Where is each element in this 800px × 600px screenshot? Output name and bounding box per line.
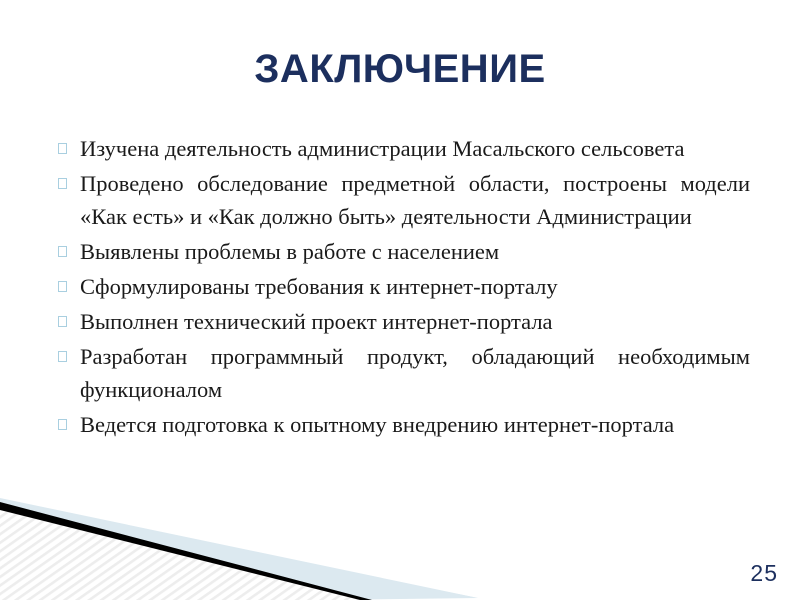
list-item-text: Выявлены проблемы в работе с населением xyxy=(80,235,750,268)
square-bullet-icon xyxy=(58,132,80,154)
hatched-region xyxy=(0,510,360,600)
square-bullet-icon xyxy=(58,408,80,430)
black-diagonal-band xyxy=(0,502,372,600)
list-item: Выполнен технический проект интернет-пор… xyxy=(58,305,750,338)
square-bullet-icon xyxy=(58,167,80,189)
list-item: Проведено обследование предметной област… xyxy=(58,167,750,233)
diagonal-corner-graphic xyxy=(0,490,800,600)
pale-blue-wedge-body xyxy=(0,504,478,598)
list-item: Ведется подготовка к опытному внедрению … xyxy=(58,408,750,441)
list-item: Разработан программный продукт, обладающ… xyxy=(58,340,750,406)
list-item: Сформулированы требования к интернет-пор… xyxy=(58,270,750,303)
page-number: 25 xyxy=(750,560,778,586)
list-item-text: Сформулированы требования к интернет-пор… xyxy=(80,270,750,303)
square-bullet-icon xyxy=(58,270,80,292)
square-bullet-icon xyxy=(58,235,80,257)
list-item: Выявлены проблемы в работе с населением xyxy=(58,235,750,268)
list-item-text: Ведется подготовка к опытному внедрению … xyxy=(80,408,750,441)
list-item-text: Разработан программный продукт, обладающ… xyxy=(80,340,750,406)
list-item-text: Изучена деятельность администрации Масал… xyxy=(80,132,750,165)
slide-canvas: ЗАКЛЮЧЕНИЕ Изучена деятельность админист… xyxy=(0,0,800,600)
slide-title: ЗАКЛЮЧЕНИЕ xyxy=(0,46,800,92)
pale-blue-wedge xyxy=(0,498,478,600)
bullet-list: Изучена деятельность администрации Масал… xyxy=(58,132,750,443)
list-item-text: Выполнен технический проект интернет-пор… xyxy=(80,305,750,338)
square-bullet-icon xyxy=(58,305,80,327)
list-item-text: Проведено обследование предметной област… xyxy=(80,167,750,233)
square-bullet-icon xyxy=(58,340,80,362)
list-item: Изучена деятельность администрации Масал… xyxy=(58,132,750,165)
